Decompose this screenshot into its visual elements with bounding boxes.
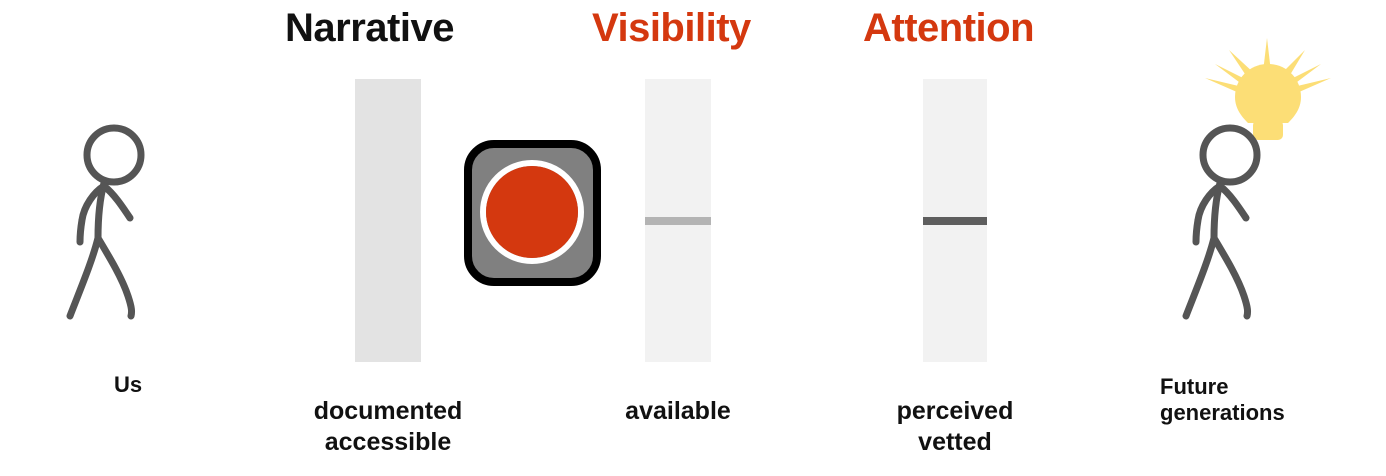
person-label-future-generations: Future generations: [1160, 374, 1360, 427]
bar-visibility[interactable]: [645, 79, 711, 362]
push-button[interactable]: [464, 140, 601, 286]
heading-visibility: Visibility: [592, 8, 751, 48]
bar-narrative[interactable]: [355, 79, 421, 362]
heading-narrative: Narrative: [285, 8, 454, 48]
stick-figure-future-generations: [1168, 120, 1328, 370]
bar-attention[interactable]: [923, 79, 987, 362]
walking-stick-figure-icon: [1168, 120, 1328, 370]
bar-marker-attention[interactable]: [923, 217, 987, 225]
red-push-button-icon[interactable]: [464, 140, 601, 286]
bar-marker-visibility[interactable]: [645, 217, 711, 225]
heading-attention: Attention: [863, 8, 1034, 48]
caption-narrative: documented accessible: [248, 396, 528, 457]
person-label-us: Us: [58, 372, 198, 398]
caption-visibility: available: [538, 396, 818, 427]
diagram-canvas: Narrative Visibility Attention Us docume…: [0, 0, 1386, 476]
stick-figure-us: [52, 120, 212, 370]
walking-stick-figure-icon: [52, 120, 212, 370]
caption-attention: perceived vetted: [815, 396, 1095, 457]
